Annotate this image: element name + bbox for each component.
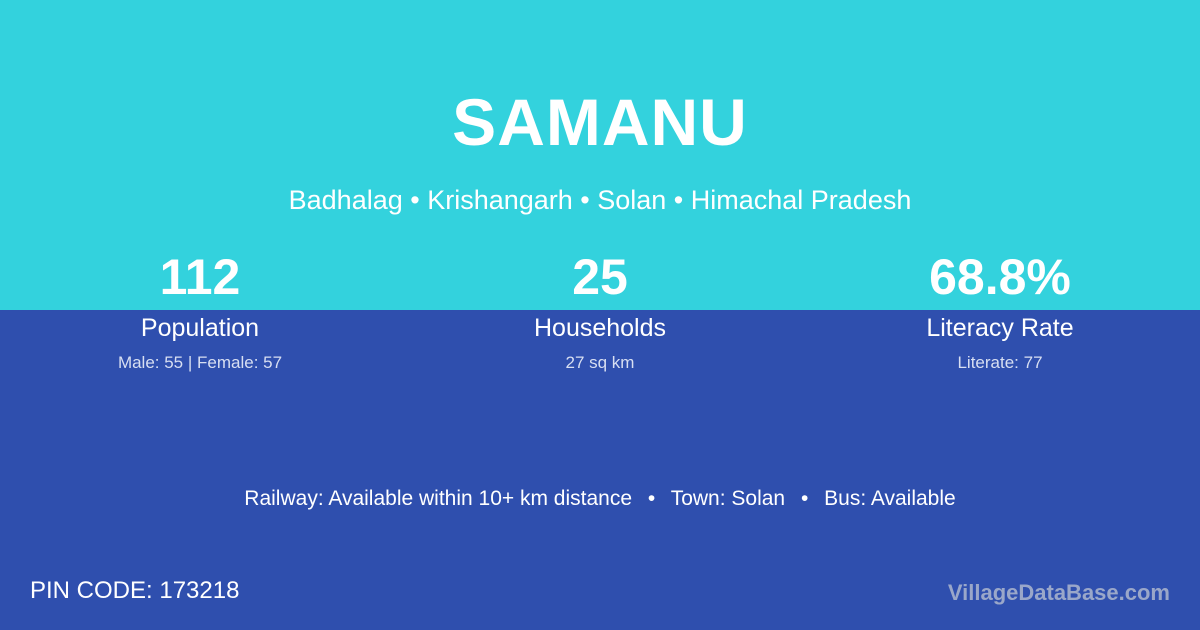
transport-info: Railway: Available within 10+ km distanc… xyxy=(0,484,1200,514)
stat-households: 25 Households 27 sq km xyxy=(400,248,800,375)
village-info-card: SAMANU Badhalag • Krishangarh • Solan • … xyxy=(0,0,1200,630)
stat-label: Population xyxy=(0,311,400,345)
transport-separator: • xyxy=(638,487,665,510)
stat-sublabel: Male: 55 | Female: 57 xyxy=(0,351,400,375)
stat-label: Literacy Rate xyxy=(800,311,1200,345)
page-title: SAMANU xyxy=(0,82,1200,162)
pin-code: PIN CODE: 173218 xyxy=(30,575,239,607)
transport-town: Town: Solan xyxy=(671,487,785,510)
stat-label: Households xyxy=(400,311,800,345)
location-breadcrumb: Badhalag • Krishangarh • Solan • Himacha… xyxy=(0,182,1200,218)
transport-railway: Railway: Available within 10+ km distanc… xyxy=(244,487,632,510)
site-brand: VillageDataBase.com xyxy=(948,578,1170,608)
stat-sublabel: 27 sq km xyxy=(400,351,800,375)
stat-value: 68.8% xyxy=(800,248,1200,306)
stats-row: 112 Population Male: 55 | Female: 57 25 … xyxy=(0,248,1200,375)
stat-sublabel: Literate: 77 xyxy=(800,351,1200,375)
transport-bus: Bus: Available xyxy=(824,487,956,510)
transport-separator: • xyxy=(791,487,818,510)
stat-value: 25 xyxy=(400,248,800,306)
stat-value: 112 xyxy=(0,248,400,306)
stat-literacy-rate: 68.8% Literacy Rate Literate: 77 xyxy=(800,248,1200,375)
stat-population: 112 Population Male: 55 | Female: 57 xyxy=(0,248,400,375)
